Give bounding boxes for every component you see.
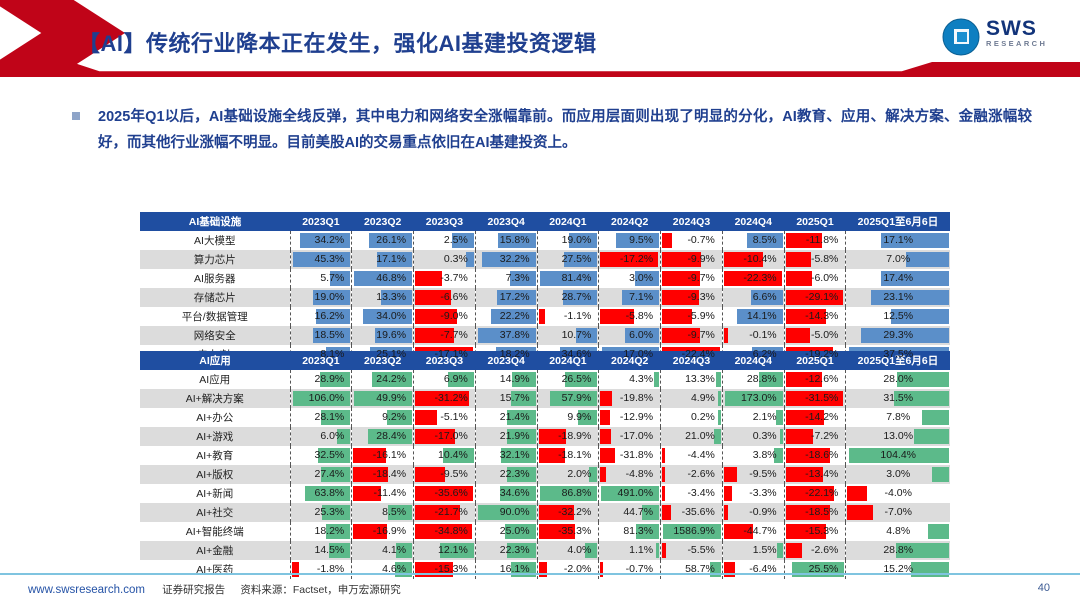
cell-value: 3.0% [599,269,660,288]
cell-value: -31.2% [414,389,475,408]
cell-value: 21.4% [476,408,537,427]
cell-value: -5.0% [785,326,846,345]
cell-存储芯片-2023Q1: 19.0% [290,288,352,307]
cell-value: 15.7% [476,389,537,408]
cell-AI服务器-2025Q1至6月6日: 17.4% [846,269,950,288]
cell-value: -5.1% [414,408,475,427]
row-label: 平台/数据管理 [140,307,290,326]
row-label: AI+教育 [140,446,290,465]
cell-value: -1.8% [291,560,352,579]
cell-value: 0.2% [661,408,722,427]
column-header-category: AI基础设施 [140,212,290,231]
cell-网络安全-2024Q2: 6.0% [599,326,661,345]
cell-value: 104.4% [846,446,950,465]
logo-wordmark: SWS [986,18,1047,39]
cell-AI+新闻-2023Q4: 34.6% [475,484,537,503]
cell-value: 3.8% [723,446,784,465]
cell-存储芯片-2024Q3: -9.3% [661,288,723,307]
cell-value: 0.3% [723,427,784,446]
cell-value: 90.0% [476,503,537,522]
cell-电力/铀-2023Q4: 18.2% [475,345,537,364]
row-label: 网络安全 [140,326,290,345]
cell-网络安全-2024Q3: -9.7% [661,326,723,345]
table-row: AI+游戏6.0%28.4%-17.0%21.9%-18.9%-17.0%21.… [140,427,950,446]
cell-value: 6.0% [291,427,352,446]
cell-AI+智能终端-2025Q1: -15.3% [784,522,846,541]
cell-AI+新闻-2024Q2: 491.0% [599,484,661,503]
cell-value: 13.3% [661,370,722,389]
cell-AI+版权-2024Q4: -9.5% [722,465,784,484]
cell-算力芯片-2024Q1: 27.5% [537,250,599,269]
cell-平台/数据管理-2025Q1至6月6日: 12.5% [846,307,950,326]
cell-AI+办公-2024Q2: -12.9% [599,408,661,427]
cell-value: -3.7% [414,269,475,288]
cell-AI+社交-2025Q1: -18.5% [784,503,846,522]
cell-AI大模型-2023Q2: 26.1% [352,231,414,250]
cell-value: -9.7% [661,269,722,288]
cell-AI+社交-2023Q2: 8.5% [352,503,414,522]
cell-value: 27.4% [291,465,352,484]
cell-value: -2.0% [538,560,599,579]
cell-value: 32.5% [291,446,352,465]
cell-网络安全-2023Q2: 19.6% [352,326,414,345]
cell-value: 16.2% [291,307,352,326]
cell-算力芯片-2023Q1: 45.3% [290,250,352,269]
cell-AI大模型-2024Q3: -0.7% [661,231,723,250]
cell-value: -3.4% [661,484,722,503]
cell-value: 0.3% [414,250,475,269]
cell-AI+教育-2025Q1: -18.6% [784,446,846,465]
cell-value: 29.3% [846,326,950,345]
cell-AI+游戏-2024Q4: 0.3% [722,427,784,446]
cell-AI+社交-2025Q1至6月6日: -7.0% [846,503,950,522]
table-row: AI大模型34.2%26.1%2.5%15.8%19.0%9.5%-0.7%8.… [140,231,950,250]
table-row: AI+新闻63.8%-11.4%-35.6%34.6%86.8%491.0%-3… [140,484,950,503]
cell-value: 17.1% [846,231,950,250]
cell-AI+新闻-2023Q2: -11.4% [352,484,414,503]
cell-value: 81.3% [599,522,660,541]
cell-value: -22.4% [661,345,722,364]
cell-value: 86.8% [538,484,599,503]
cell-平台/数据管理-2024Q2: -5.8% [599,307,661,326]
cell-AI服务器-2023Q3: -3.7% [414,269,476,288]
row-label: AI+解决方案 [140,389,290,408]
cell-AI应用-2025Q1: -12.6% [784,370,846,389]
cell-value: 12.5% [846,307,950,326]
cell-value: 58.7% [661,560,722,579]
cell-value: -0.7% [661,231,722,250]
cell-value: -31.8% [599,446,660,465]
cell-AI+医药-2024Q3: 58.7% [661,560,723,579]
cell-value: -18.4% [352,465,413,484]
cell-value: -10.4% [723,250,784,269]
cell-value: -17.2% [599,250,660,269]
cell-AI大模型-2023Q3: 2.5% [414,231,476,250]
cell-AI服务器-2023Q4: 7.3% [475,269,537,288]
cell-网络安全-2025Q1: -5.0% [784,326,846,345]
cell-AI+智能终端-2023Q4: 25.0% [475,522,537,541]
cell-电力/铀-2024Q3: -22.4% [661,345,723,364]
cell-value: -11.8% [785,231,846,250]
cell-value: 46.8% [352,269,413,288]
cell-value: 49.9% [352,389,413,408]
cell-网络安全-2023Q3: -7.7% [414,326,476,345]
cell-value: -7.7% [414,326,475,345]
cell-value: 34.6% [476,484,537,503]
cell-value: -14.3% [785,307,846,326]
cell-value: 10.4% [414,446,475,465]
cell-AI+社交-2023Q3: -21.7% [414,503,476,522]
cell-平台/数据管理-2024Q4: 14.1% [722,307,784,326]
cell-value: 17.2% [476,288,537,307]
cell-value: 81.4% [538,269,599,288]
cell-value: -0.1% [723,326,784,345]
cell-value: 15.8% [476,231,537,250]
cell-AI应用-2024Q1: 26.5% [537,370,599,389]
cell-value: 8.1% [291,345,352,364]
cell-AI+游戏-2023Q1: 6.0% [290,427,352,446]
cell-value: 21.9% [476,427,537,446]
cell-value: -6.4% [723,560,784,579]
cell-AI+办公-2024Q4: 2.1% [722,408,784,427]
cell-value: -11.4% [352,484,413,503]
cell-value: -16.9% [352,522,413,541]
cell-AI+社交-2024Q3: -35.6% [661,503,723,522]
cell-value: 2.5% [414,231,475,250]
cell-平台/数据管理-2023Q4: 22.2% [475,307,537,326]
cell-value: 2.0% [538,465,599,484]
cell-AI+办公-2025Q1至6月6日: 7.8% [846,408,950,427]
cell-value: -5.8% [785,250,846,269]
cell-value: 173.0% [723,389,784,408]
cell-value: -9.5% [723,465,784,484]
application-table: AI应用2023Q12023Q22023Q32023Q42024Q12024Q2… [140,351,950,579]
cell-AI+医药-2024Q1: -2.0% [537,560,599,579]
bullet-block: 2025年Q1以后，AI基础设施全线反弹，其中电力和网络安全涨幅靠前。而应用层面… [72,104,1032,156]
cell-AI应用-2023Q2: 24.2% [352,370,414,389]
table-row: AI+医药-1.8%4.6%-15.3%16.1%-2.0%-0.7%58.7%… [140,560,950,579]
cell-value: -1.1% [538,307,599,326]
cell-value: -19.8% [599,389,660,408]
cell-平台/数据管理-2024Q1: -1.1% [537,307,599,326]
cell-value: 9.9% [538,408,599,427]
cell-AI大模型-2025Q1: -11.8% [784,231,846,250]
cell-AI+新闻-2023Q1: 63.8% [290,484,352,503]
cell-value: -4.8% [599,465,660,484]
cell-value: 8.5% [723,231,784,250]
cell-value: -29.1% [785,288,846,307]
cell-网络安全-2023Q1: 18.5% [290,326,352,345]
row-label: AI+社交 [140,503,290,522]
cell-value: 34.0% [352,307,413,326]
cell-AI+医药-2024Q2: -0.7% [599,560,661,579]
cell-AI服务器-2024Q1: 81.4% [537,269,599,288]
header-red-band [0,62,1080,77]
cell-value: -6.0% [785,269,846,288]
cell-AI+新闻-2024Q1: 86.8% [537,484,599,503]
cell-value: -18.5% [785,503,846,522]
cell-value: 4.8% [846,522,950,541]
column-header-2023Q2: 2023Q2 [352,212,414,231]
cell-AI大模型-2024Q2: 9.5% [599,231,661,250]
cell-AI+医药-2025Q1至6月6日: 15.2% [846,560,950,579]
cell-AI+办公-2023Q2: 9.2% [352,408,414,427]
cell-value: 19.0% [538,231,599,250]
cell-value: -35.6% [414,484,475,503]
cell-value: 25.0% [476,522,537,541]
cell-value: 1.1% [599,541,660,560]
cell-AI+办公-2024Q1: 9.9% [537,408,599,427]
cell-AI+教育-2024Q3: -4.4% [661,446,723,465]
cell-value: -21.7% [414,503,475,522]
cell-value: -18.9% [538,427,599,446]
cell-网络安全-2024Q1: 10.7% [537,326,599,345]
cell-value: -5.5% [661,541,722,560]
cell-value: -34.8% [414,522,475,541]
cell-电力/铀-2025Q1: -19.2% [784,345,846,364]
table-row: 网络安全18.5%19.6%-7.7%37.8%10.7%6.0%-9.7%-0… [140,326,950,345]
cell-value: -2.6% [661,465,722,484]
cell-value: -15.3% [414,560,475,579]
cell-AI大模型-2024Q4: 8.5% [722,231,784,250]
cell-value: 32.1% [476,446,537,465]
cell-value: 13.3% [352,288,413,307]
cell-AI+医药-2024Q4: -6.4% [722,560,784,579]
cell-AI+办公-2023Q3: -5.1% [414,408,476,427]
cell-AI+新闻-2025Q1: -22.1% [784,484,846,503]
cell-AI+医药-2023Q2: 4.6% [352,560,414,579]
cell-value: 34.6% [538,345,599,364]
cell-平台/数据管理-2023Q2: 34.0% [352,307,414,326]
slide: 【AI】传统行业降本正在发生，强化AI基建投资逻辑 SWS RESEARCH 2… [0,0,1080,608]
table-row: AI+教育32.5%-16.1%10.4%32.1%-18.1%-31.8%-4… [140,446,950,465]
cell-算力芯片-2024Q4: -10.4% [722,250,784,269]
cell-value: -22.1% [785,484,846,503]
cell-value: -9.7% [661,326,722,345]
cell-value: 26.1% [352,231,413,250]
cell-电力/铀-2024Q4: 6.2% [722,345,784,364]
table-row: 算力芯片45.3%17.1%0.3%32.2%27.5%-17.2%-9.9%-… [140,250,950,269]
cell-value: 25.3% [291,503,352,522]
cell-AI应用-2024Q4: 28.8% [722,370,784,389]
cell-value: 28.4% [352,427,413,446]
cell-AI+新闻-2024Q3: -3.4% [661,484,723,503]
cell-AI+解决方案-2023Q4: 15.7% [475,389,537,408]
cell-value: 6.9% [414,370,475,389]
cell-value: 22.3% [476,465,537,484]
cell-AI+金融-2024Q4: 1.5% [722,541,784,560]
cell-AI+游戏-2025Q1: -7.2% [784,427,846,446]
cell-存储芯片-2024Q1: 28.7% [537,288,599,307]
table-row: AI+办公28.1%9.2%-5.1%21.4%9.9%-12.9%0.2%2.… [140,408,950,427]
page-number: 40 [1038,582,1050,594]
cell-value: -15.3% [785,522,846,541]
cell-AI大模型-2023Q4: 15.8% [475,231,537,250]
cell-value: 1586.9% [661,522,722,541]
cell-AI+智能终端-2024Q1: -35.3% [537,522,599,541]
cell-AI+版权-2024Q3: -2.6% [661,465,723,484]
footer: www.swsresearch.com 证券研究报告 资料来源：Factset，… [28,582,401,597]
cell-电力/铀-2024Q1: 34.6% [537,345,599,364]
cell-value: -14.2% [785,408,846,427]
cell-存储芯片-2023Q3: -6.6% [414,288,476,307]
cell-value: -7.2% [785,427,846,446]
cell-value: -31.5% [785,389,846,408]
cell-算力芯片-2023Q2: 17.1% [352,250,414,269]
cell-value: -22.3% [723,269,784,288]
cell-网络安全-2024Q4: -0.1% [722,326,784,345]
row-label: 算力芯片 [140,250,290,269]
cell-AI+智能终端-2025Q1至6月6日: 4.8% [846,522,950,541]
cell-value: 4.6% [352,560,413,579]
cell-value: -17.1% [414,345,475,364]
footer-source: 资料来源：Factset，申万宏源研究 [240,584,400,596]
column-header-2023Q3: 2023Q3 [414,212,476,231]
cell-value: 4.3% [599,370,660,389]
cell-AI+医药-2023Q4: 16.1% [475,560,537,579]
cell-AI服务器-2024Q2: 3.0% [599,269,661,288]
cell-value: 14.9% [476,370,537,389]
cell-AI+版权-2023Q3: -9.5% [414,465,476,484]
cell-AI+解决方案-2023Q1: 106.0% [290,389,352,408]
cell-AI+智能终端-2023Q1: 18.2% [290,522,352,541]
cell-AI+版权-2023Q4: 22.3% [475,465,537,484]
table-row: AI服务器5.7%46.8%-3.7%7.3%81.4%3.0%-9.7%-22… [140,269,950,288]
cell-value: 28.8% [723,370,784,389]
cell-网络安全-2023Q4: 37.8% [475,326,537,345]
cell-AI+金融-2024Q3: -5.5% [661,541,723,560]
row-label: 存储芯片 [140,288,290,307]
cell-AI应用-2023Q4: 14.9% [475,370,537,389]
row-label: AI+办公 [140,408,290,427]
cell-value: 9.5% [599,231,660,250]
cell-value: 9.2% [352,408,413,427]
cell-AI+社交-2024Q4: -0.9% [722,503,784,522]
sws-logo-icon [942,18,980,56]
row-label: AI+版权 [140,465,290,484]
cell-value: 28.8% [846,541,950,560]
cell-AI+医药-2025Q1: 25.5% [784,560,846,579]
cell-value: -13.4% [785,465,846,484]
logo-subtitle: RESEARCH [986,39,1047,49]
cell-value: 32.2% [476,250,537,269]
cell-AI+医药-2023Q1: -1.8% [290,560,352,579]
cell-value: -35.6% [661,503,722,522]
cell-AI服务器-2024Q3: -9.7% [661,269,723,288]
cell-存储芯片-2025Q1: -29.1% [784,288,846,307]
table-row: 存储芯片19.0%13.3%-6.6%17.2%28.7%7.1%-9.3%6.… [140,288,950,307]
table-row: AI+社交25.3%8.5%-21.7%90.0%-32.2%44.7%-35.… [140,503,950,522]
cell-value: 15.2% [846,560,950,579]
cell-AI应用-2023Q1: 28.9% [290,370,352,389]
cell-value: 8.5% [352,503,413,522]
cell-value: -0.9% [723,503,784,522]
infrastructure-table: AI基础设施2023Q12023Q22023Q32023Q42024Q12024… [140,212,950,364]
cell-value: -18.1% [538,446,599,465]
cell-AI+新闻-2025Q1至6月6日: -4.0% [846,484,950,503]
cell-存储芯片-2024Q4: 6.6% [722,288,784,307]
cell-AI+解决方案-2025Q1至6月6日: 31.5% [846,389,950,408]
cell-AI+游戏-2023Q4: 21.9% [475,427,537,446]
cell-value: 14.1% [723,307,784,326]
cell-value: 1.5% [723,541,784,560]
row-label: AI大模型 [140,231,290,250]
cell-AI+金融-2025Q1至6月6日: 28.8% [846,541,950,560]
cell-算力芯片-2025Q1至6月6日: 7.0% [846,250,950,269]
cell-存储芯片-2025Q1至6月6日: 23.1% [846,288,950,307]
cell-value: -18.6% [785,446,846,465]
cell-value: 3.0% [846,465,950,484]
cell-AI+游戏-2024Q2: -17.0% [599,427,661,446]
cell-value: 10.7% [538,326,599,345]
cell-AI+办公-2025Q1: -14.2% [784,408,846,427]
cell-value: -9.3% [661,288,722,307]
cell-value: 25.1% [352,345,413,364]
cell-AI+教育-2025Q1至6月6日: 104.4% [846,446,950,465]
cell-value: 17.0% [599,345,660,364]
cell-value: -9.9% [661,250,722,269]
cell-AI+智能终端-2024Q3: 1586.9% [661,522,723,541]
cell-平台/数据管理-2024Q3: -5.9% [661,307,723,326]
cell-AI+游戏-2023Q2: 28.4% [352,427,414,446]
cell-AI+解决方案-2025Q1: -31.5% [784,389,846,408]
cell-value: 4.0% [538,541,599,560]
cell-value: 7.8% [846,408,950,427]
table-header-row: AI基础设施2023Q12023Q22023Q32023Q42024Q12024… [140,212,950,231]
cell-AI+金融-2024Q1: 4.0% [537,541,599,560]
cell-AI+办公-2023Q1: 28.1% [290,408,352,427]
cell-电力/铀-2023Q3: -17.1% [414,345,476,364]
cell-value: 28.7% [538,288,599,307]
cell-value: 27.5% [538,250,599,269]
cell-算力芯片-2024Q2: -17.2% [599,250,661,269]
footer-url[interactable]: www.swsresearch.com [28,584,145,596]
cell-value: 5.7% [291,269,352,288]
cell-value: -19.2% [785,345,846,364]
cell-AI+新闻-2024Q4: -3.3% [722,484,784,503]
cell-value: 19.0% [291,288,352,307]
cell-value: 19.6% [352,326,413,345]
cell-AI服务器-2025Q1: -6.0% [784,269,846,288]
cell-AI+办公-2024Q3: 0.2% [661,408,723,427]
cell-value: 6.0% [599,326,660,345]
cell-AI+版权-2024Q2: -4.8% [599,465,661,484]
cell-value: -12.9% [599,408,660,427]
cell-value: 4.9% [661,389,722,408]
cell-value: 7.1% [599,288,660,307]
cell-AI+游戏-2025Q1至6月6日: 13.0% [846,427,950,446]
row-label: AI服务器 [140,269,290,288]
column-header-2023Q1: 2023Q1 [290,212,352,231]
cell-value: -9.0% [414,307,475,326]
cell-AI大模型-2024Q1: 19.0% [537,231,599,250]
sws-logo: SWS RESEARCH [942,16,1062,58]
cell-value: 6.6% [723,288,784,307]
cell-value: 28.0% [846,370,950,389]
cell-AI+智能终端-2024Q2: 81.3% [599,522,661,541]
row-label: AI+游戏 [140,427,290,446]
cell-value: 21.0% [661,427,722,446]
cell-AI+办公-2023Q4: 21.4% [475,408,537,427]
cell-电力/铀-2023Q1: 8.1% [290,345,352,364]
cell-AI+游戏-2024Q3: 21.0% [661,427,723,446]
sws-logo-text: SWS RESEARCH [986,18,1047,49]
cell-AI+教育-2023Q1: 32.5% [290,446,352,465]
cell-value: -4.4% [661,446,722,465]
column-header-2024Q4: 2024Q4 [722,212,784,231]
cell-value: 13.0% [846,427,950,446]
cell-AI+解决方案-2024Q4: 173.0% [722,389,784,408]
